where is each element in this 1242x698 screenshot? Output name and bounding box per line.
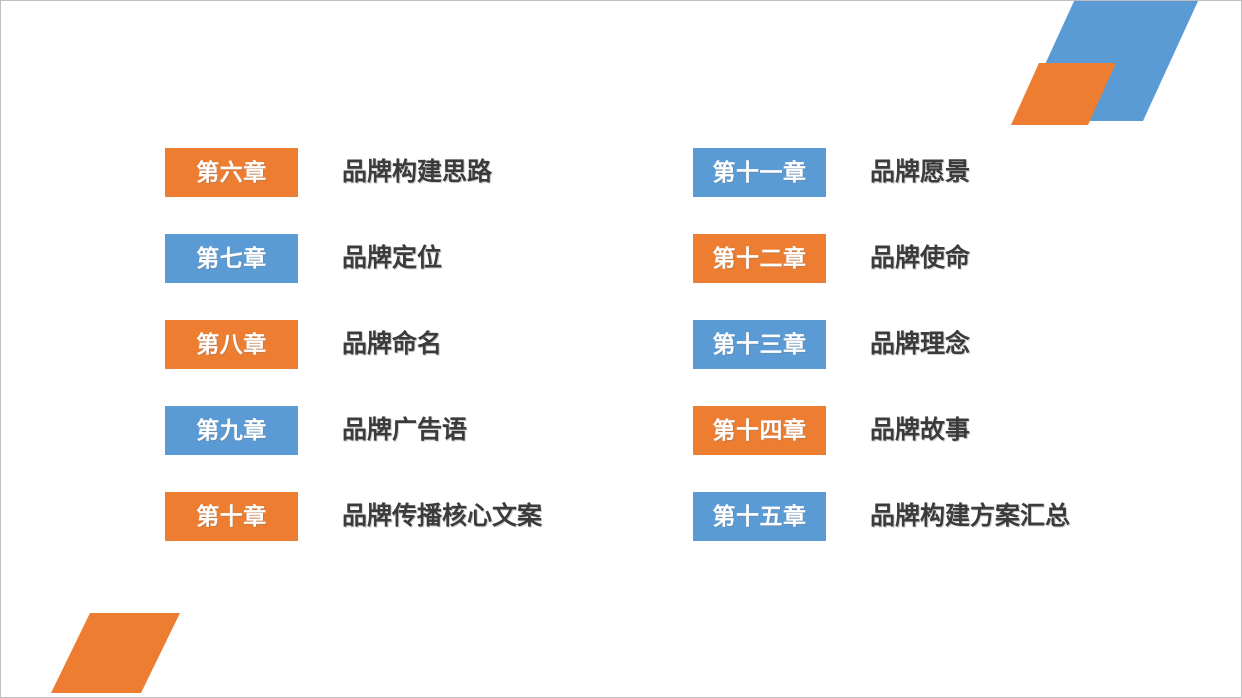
chapter-badge-10[interactable]: 第十章	[165, 492, 298, 541]
chapter-title-13: 品牌理念	[870, 332, 970, 357]
toc-item-chapter-12[interactable]: 第十二章 品牌使命	[693, 234, 1070, 283]
chapter-badge-11[interactable]: 第十一章	[693, 148, 826, 197]
toc-item-chapter-14[interactable]: 第十四章 品牌故事	[693, 406, 1070, 455]
chapter-title-6: 品牌构建思路	[342, 160, 492, 185]
chapter-title-7: 品牌定位	[342, 246, 442, 271]
toc-item-chapter-13[interactable]: 第十三章 品牌理念	[693, 320, 1070, 369]
toc-item-chapter-11[interactable]: 第十一章 品牌愿景	[693, 148, 1070, 197]
presentation-slide: 第六章 品牌构建思路 第七章 品牌定位 第八章 品牌命名 第九章	[0, 0, 1242, 698]
chapter-title-9: 品牌广告语	[342, 418, 467, 443]
chapter-title-11: 品牌愿景	[870, 160, 970, 185]
table-of-contents: 第六章 品牌构建思路 第七章 品牌定位 第八章 品牌命名 第九章	[1, 1, 1241, 697]
chapter-title-8: 品牌命名	[342, 332, 442, 357]
chapter-badge-8[interactable]: 第八章	[165, 320, 298, 369]
chapter-badge-12[interactable]: 第十二章	[693, 234, 826, 283]
chapter-title-10: 品牌传播核心文案	[342, 504, 542, 529]
toc-item-chapter-8[interactable]: 第八章 品牌命名	[165, 320, 542, 369]
chapter-badge-label: 第八章	[196, 333, 267, 356]
chapter-title-12: 品牌使命	[870, 246, 970, 271]
chapter-badge-9[interactable]: 第九章	[165, 406, 298, 455]
chapter-badge-label: 第七章	[196, 247, 267, 270]
chapter-badge-label: 第十章	[196, 505, 267, 528]
toc-column-left: 第六章 品牌构建思路 第七章 品牌定位 第八章 品牌命名 第九章	[165, 148, 542, 541]
chapter-badge-label: 第九章	[196, 419, 267, 442]
chapter-badge-label: 第十二章	[713, 247, 807, 270]
chapter-badge-15[interactable]: 第十五章	[693, 492, 826, 541]
chapter-badge-label: 第十三章	[713, 333, 807, 356]
toc-item-chapter-7[interactable]: 第七章 品牌定位	[165, 234, 542, 283]
chapter-badge-label: 第十一章	[713, 161, 807, 184]
chapter-badge-label: 第十四章	[713, 419, 807, 442]
chapter-badge-13[interactable]: 第十三章	[693, 320, 826, 369]
chapter-badge-14[interactable]: 第十四章	[693, 406, 826, 455]
chapter-title-14: 品牌故事	[870, 418, 970, 443]
chapter-badge-label: 第十五章	[713, 505, 807, 528]
chapter-title-15: 品牌构建方案汇总	[870, 504, 1070, 529]
toc-item-chapter-6[interactable]: 第六章 品牌构建思路	[165, 148, 542, 197]
toc-item-chapter-15[interactable]: 第十五章 品牌构建方案汇总	[693, 492, 1070, 541]
toc-item-chapter-9[interactable]: 第九章 品牌广告语	[165, 406, 542, 455]
chapter-badge-6[interactable]: 第六章	[165, 148, 298, 197]
chapter-badge-7[interactable]: 第七章	[165, 234, 298, 283]
chapter-badge-label: 第六章	[196, 161, 267, 184]
toc-item-chapter-10[interactable]: 第十章 品牌传播核心文案	[165, 492, 542, 541]
toc-column-right: 第十一章 品牌愿景 第十二章 品牌使命 第十三章 品牌理念 第十四章	[693, 148, 1070, 541]
